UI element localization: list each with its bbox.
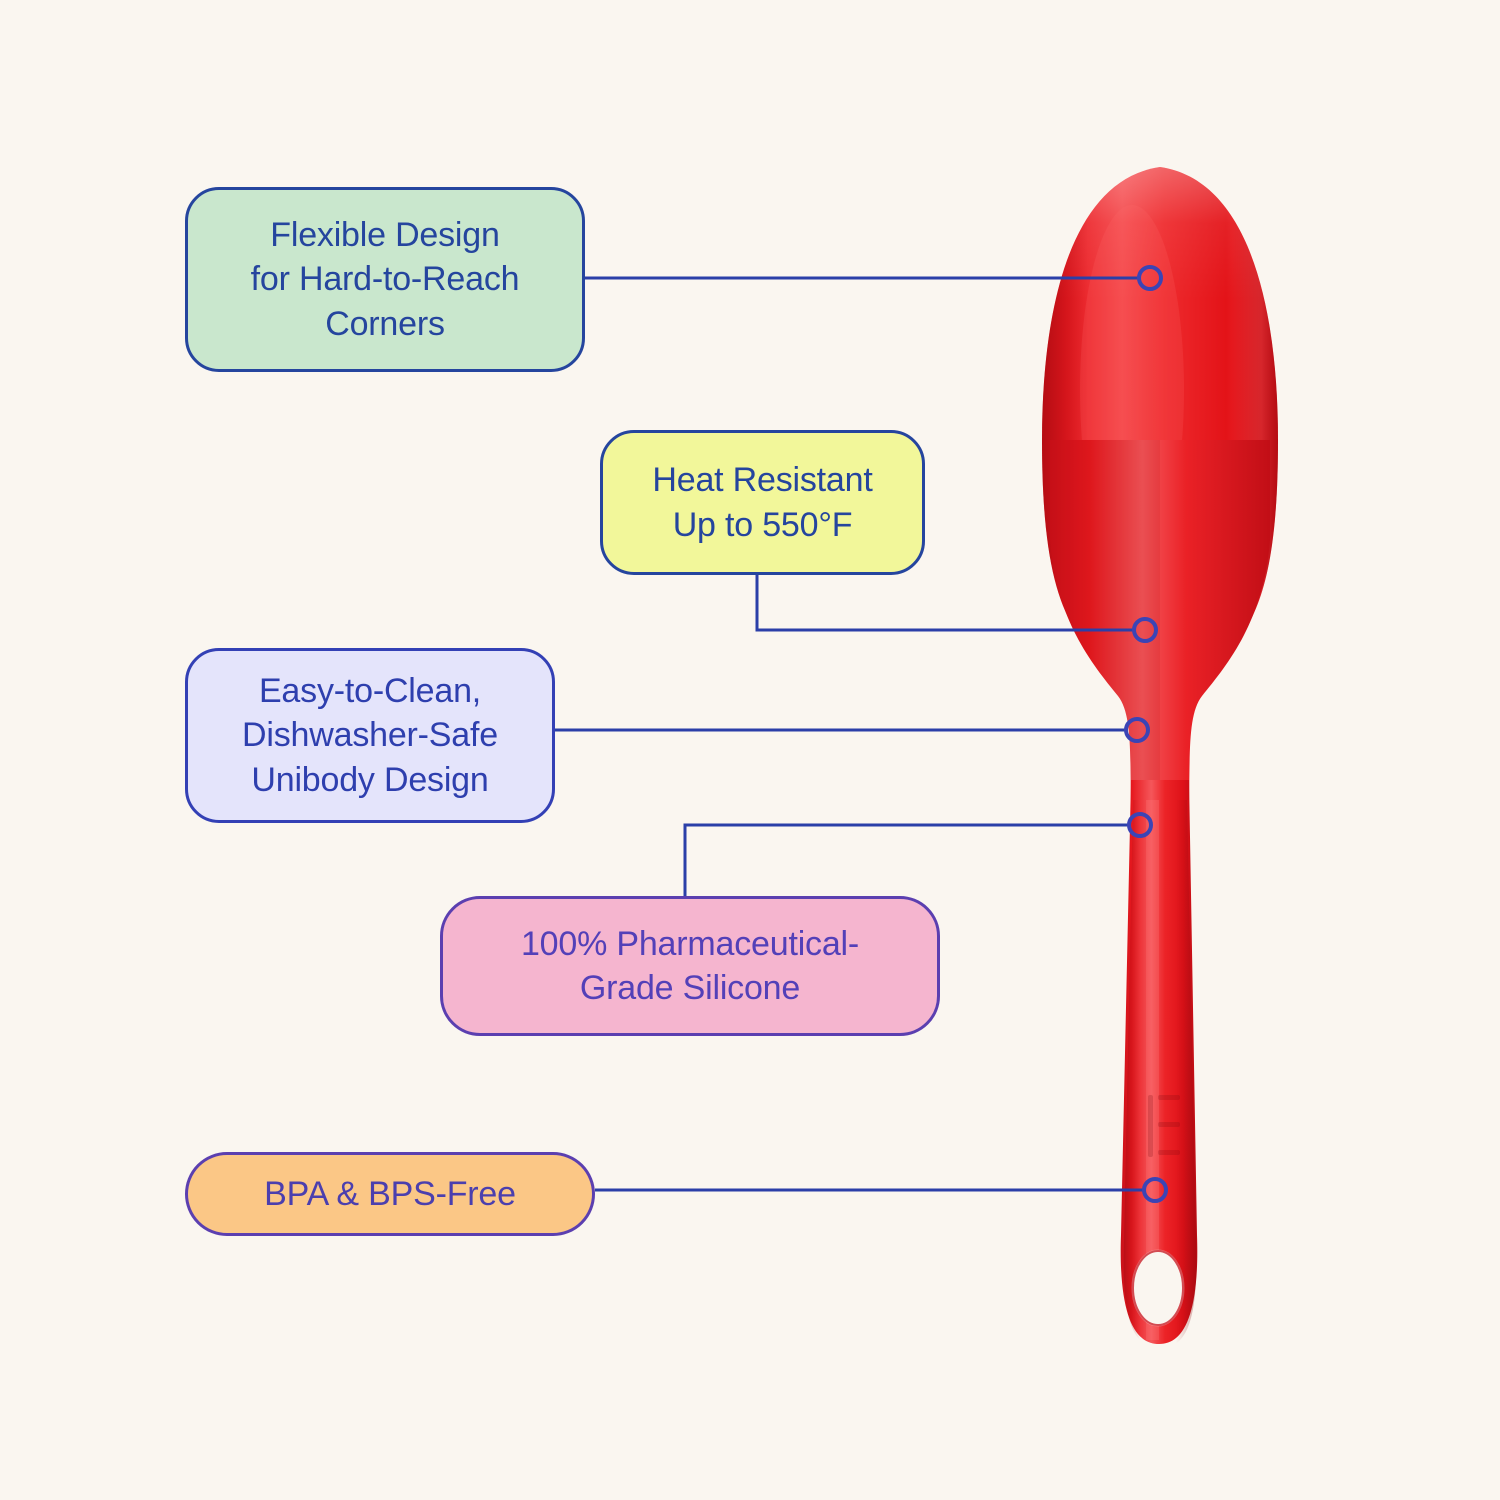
- callout-heat-text: Heat Resistant Up to 550°F: [652, 458, 872, 546]
- callout-clean-text: Easy-to-Clean, Dishwasher-Safe Unibody D…: [242, 669, 498, 802]
- spatula-neck: [1050, 440, 1270, 808]
- infographic-canvas: Flexible Design for Hard-to-Reach Corner…: [0, 0, 1500, 1500]
- callout-flexible-text: Flexible Design for Hard-to-Reach Corner…: [251, 213, 520, 346]
- spatula-handle: [1118, 770, 1200, 1370]
- callout-silicone-text: 100% Pharmaceutical- Grade Silicone: [521, 922, 859, 1010]
- callout-pharmaceutical-grade-silicone: 100% Pharmaceutical- Grade Silicone: [440, 896, 940, 1036]
- callout-easy-to-clean: Easy-to-Clean, Dishwasher-Safe Unibody D…: [185, 648, 555, 823]
- callout-bpa-text: BPA & BPS-Free: [264, 1172, 516, 1216]
- callout-heat-resistant: Heat Resistant Up to 550°F: [600, 430, 925, 575]
- callout-bpa-bps-free: BPA & BPS-Free: [185, 1152, 595, 1236]
- product-image-spatula: [1000, 140, 1320, 1370]
- callout-flexible-design: Flexible Design for Hard-to-Reach Corner…: [185, 187, 585, 372]
